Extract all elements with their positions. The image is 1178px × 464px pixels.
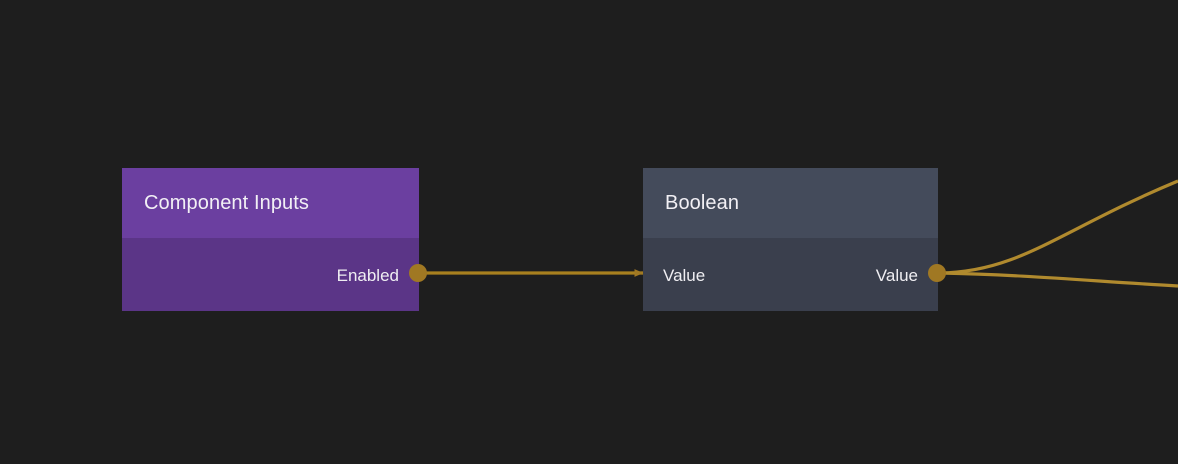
node-component-inputs[interactable]: Component Inputs Enabled [122,168,419,311]
node-body-boolean: Value Value [643,238,938,311]
node-body-component-inputs: Enabled [122,238,419,311]
node-header-component-inputs[interactable]: Component Inputs [122,168,419,238]
edge-value-out-lower[interactable] [940,273,1178,286]
output-port-row-value[interactable]: Value [643,264,938,288]
node-title: Component Inputs [144,192,309,215]
output-port-label-value: Value [876,266,918,286]
node-header-boolean[interactable]: Boolean [643,168,938,238]
node-boolean[interactable]: Boolean Value Value [643,168,938,311]
node-title: Boolean [665,192,739,215]
edge-value-out-upper[interactable] [940,181,1178,273]
output-port-dot-value[interactable] [928,264,946,282]
output-port-dot-enabled[interactable] [409,264,427,282]
output-port-label-enabled: Enabled [337,266,399,286]
node-graph-canvas[interactable]: Component Inputs Enabled Boolean Value V… [0,0,1178,464]
output-port-row-enabled[interactable]: Enabled [122,264,419,288]
